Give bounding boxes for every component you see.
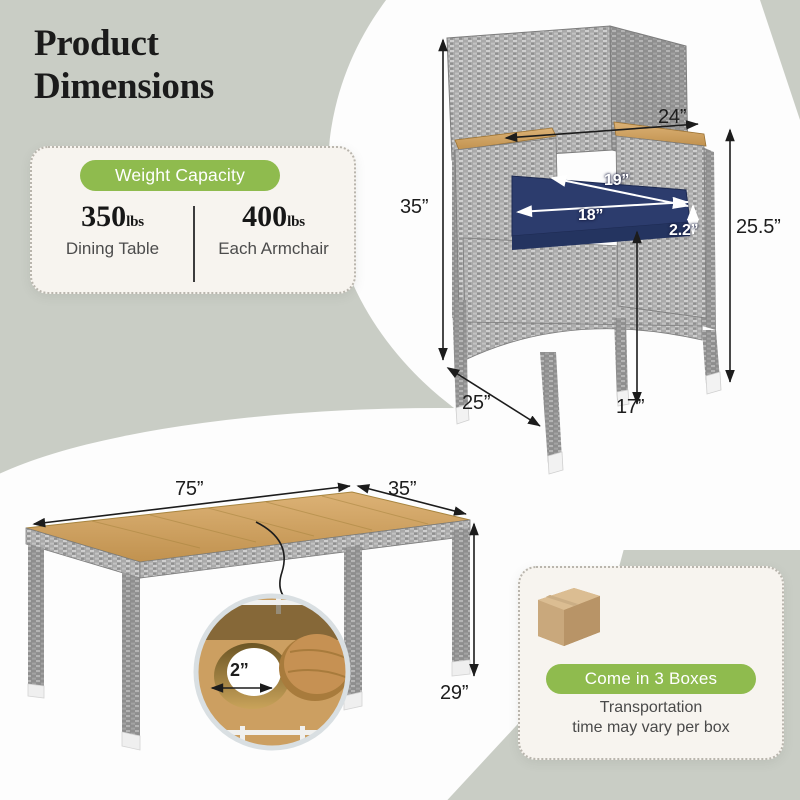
boxes-note: Transportation time may vary per box (528, 698, 774, 739)
boxes-note-line-2: time may vary per box (528, 718, 774, 738)
packaging-card: Come in 3 Boxes Transportation time may … (518, 566, 784, 760)
boxes-count-pill: Come in 3 Boxes (546, 664, 756, 694)
boxes-note-line-1: Transportation (528, 698, 774, 718)
table-dim-umbrella-hole: 2” (230, 660, 249, 681)
boxes-illustration (534, 582, 768, 658)
box-icon-3 (534, 582, 604, 654)
infographic-canvas: Product Dimensions Weight Capacity 350lb… (0, 0, 800, 800)
